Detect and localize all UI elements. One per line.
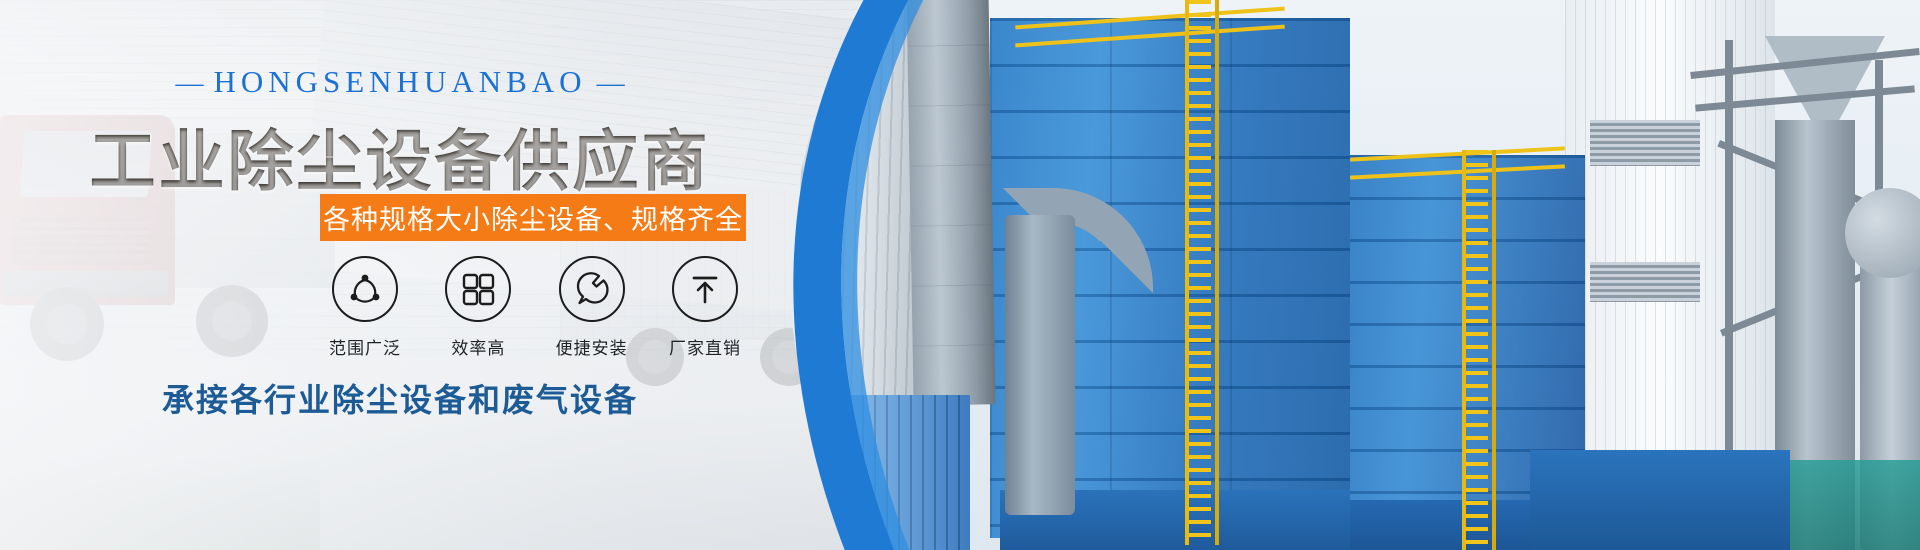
feature-label: 范围广泛 <box>329 334 401 359</box>
brand-eyebrow: —HONGSENHUANBAO— <box>0 64 800 100</box>
wrench-icon <box>559 256 625 322</box>
feature-list: 范围广泛 效率高 <box>320 256 750 359</box>
feature-item-factory-direct[interactable]: 厂家直销 <box>660 256 750 359</box>
feature-item-efficiency[interactable]: 效率高 <box>433 256 523 359</box>
tagline-text: 承接各行业除尘设备和废气设备 <box>0 375 800 421</box>
dash-left-icon: — <box>165 68 213 99</box>
page-title: 工业除尘设备供应商 <box>0 108 800 204</box>
grid-squares-icon <box>445 256 511 322</box>
highlight-bar: 各种规格大小除尘设备、规格齐全 <box>320 194 746 241</box>
feature-label: 效率高 <box>451 334 505 359</box>
banner-content: —HONGSENHUANBAO— 工业除尘设备供应商 各种规格大小除尘设备、规格… <box>0 0 820 550</box>
feature-label: 厂家直销 <box>669 334 741 359</box>
feature-item-install[interactable]: 便捷安装 <box>547 256 637 359</box>
brand-name-text: HONGSENHUANBAO <box>213 64 586 99</box>
highlight-bar-text: 各种规格大小除尘设备、规格齐全 <box>323 198 743 237</box>
industrial-equipment-photo <box>790 0 1920 550</box>
feature-label: 便捷安装 <box>556 334 628 359</box>
up-arrow-icon <box>672 256 738 322</box>
dash-right-icon: — <box>587 68 635 99</box>
network-nodes-icon <box>332 256 398 322</box>
hero-banner: —HONGSENHUANBAO— 工业除尘设备供应商 各种规格大小除尘设备、规格… <box>0 0 1920 550</box>
feature-item-range[interactable]: 范围广泛 <box>320 256 410 359</box>
